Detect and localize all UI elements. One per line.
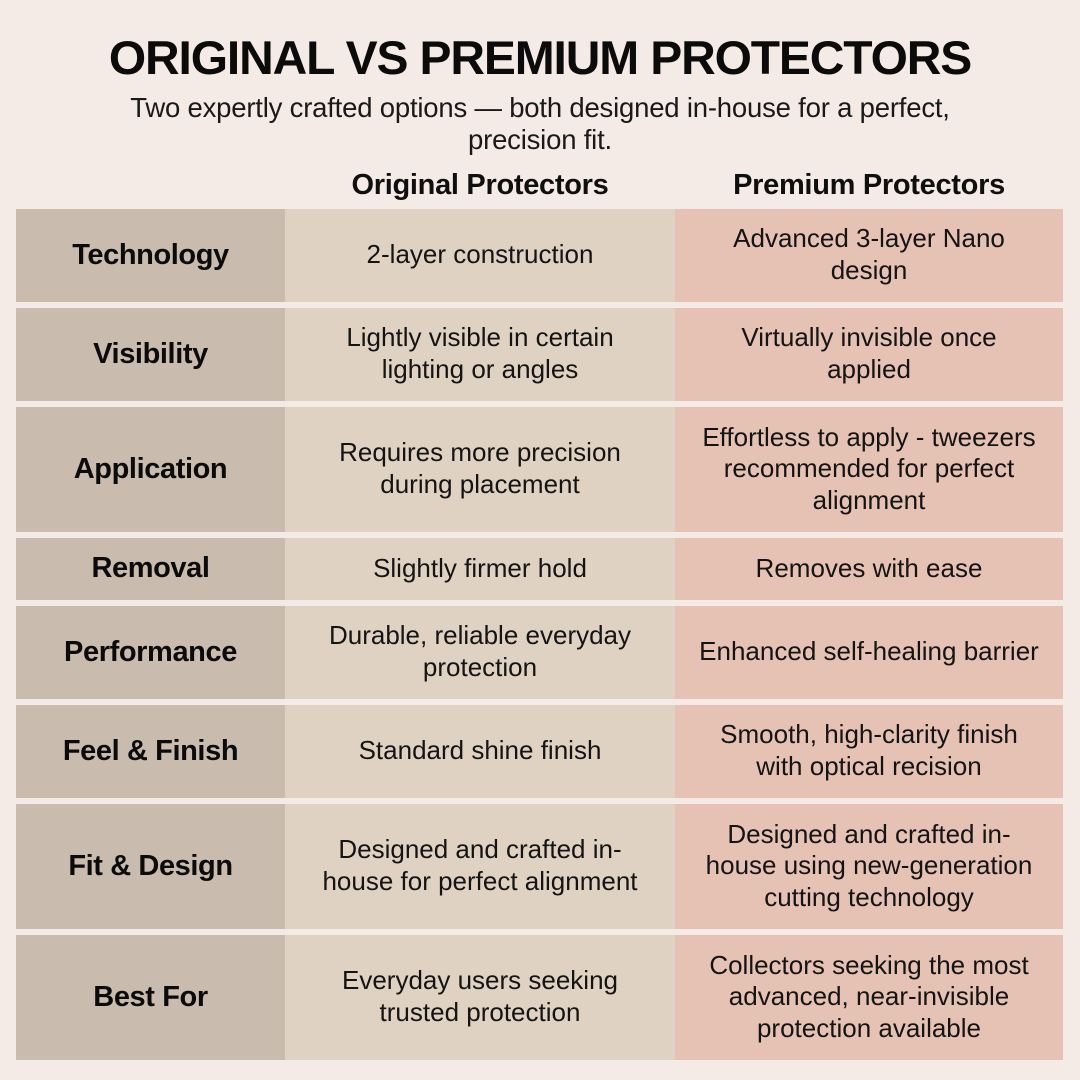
comparison-infographic: Original vs Premium Protectors Two exper… xyxy=(0,0,1080,1080)
header: Original vs Premium Protectors Two exper… xyxy=(0,0,1080,156)
table-row: Feel & Finish Standard shine finish Smoo… xyxy=(16,705,1063,798)
row-label: Application xyxy=(16,407,285,532)
column-headers: Original Protectors Premium Protectors xyxy=(16,169,1063,209)
row-label: Performance xyxy=(16,606,285,699)
table-row: Application Requires more precision duri… xyxy=(16,407,1063,532)
row-label: Visibility xyxy=(16,308,285,401)
cell-original: Designed and crafted in-house for perfec… xyxy=(285,804,675,929)
table-row: Technology 2-layer construction Advanced… xyxy=(16,209,1063,302)
cell-premium: Smooth, high-clarity finish with optical… xyxy=(675,705,1063,798)
column-header-spacer xyxy=(16,169,285,209)
table-row: Fit & Design Designed and crafted in-hou… xyxy=(16,804,1063,929)
row-label: Feel & Finish xyxy=(16,705,285,798)
table-row: Performance Durable, reliable everyday p… xyxy=(16,606,1063,699)
row-label: Technology xyxy=(16,209,285,302)
cell-original: Slightly firmer hold xyxy=(285,538,675,600)
comparison-table: Technology 2-layer construction Advanced… xyxy=(16,209,1063,1060)
cell-original: Requires more precision during placement xyxy=(285,407,675,532)
cell-original: Everyday users seeking trusted protectio… xyxy=(285,935,675,1060)
table-row: Visibility Lightly visible in certain li… xyxy=(16,308,1063,401)
cell-premium: Virtually invisible once applied xyxy=(675,308,1063,401)
cell-original: Standard shine finish xyxy=(285,705,675,798)
page-title: Original vs Premium Protectors xyxy=(16,34,1065,83)
cell-premium: Advanced 3-layer Nano design xyxy=(675,209,1063,302)
row-label: Removal xyxy=(16,538,285,600)
column-header-premium: Premium Protectors xyxy=(675,169,1063,209)
table-row: Best For Everyday users seeking trusted … xyxy=(16,935,1063,1060)
row-label: Best For xyxy=(16,935,285,1060)
cell-original: Durable, reliable everyday protection xyxy=(285,606,675,699)
cell-premium: Removes with ease xyxy=(675,538,1063,600)
cell-original: Lightly visible in certain lighting or a… xyxy=(285,308,675,401)
cell-premium: Collectors seeking the most advanced, ne… xyxy=(675,935,1063,1060)
column-header-original: Original Protectors xyxy=(285,169,675,209)
page-subtitle: Two expertly crafted options — both desi… xyxy=(26,92,1054,156)
cell-premium: Enhanced self-healing barrier xyxy=(675,606,1063,699)
row-label: Fit & Design xyxy=(16,804,285,929)
cell-premium: Effortless to apply - tweezers recommend… xyxy=(675,407,1063,532)
cell-original: 2-layer construction xyxy=(285,209,675,302)
table-row: Removal Slightly firmer hold Removes wit… xyxy=(16,538,1063,600)
cell-premium: Designed and crafted in-house using new-… xyxy=(675,804,1063,929)
